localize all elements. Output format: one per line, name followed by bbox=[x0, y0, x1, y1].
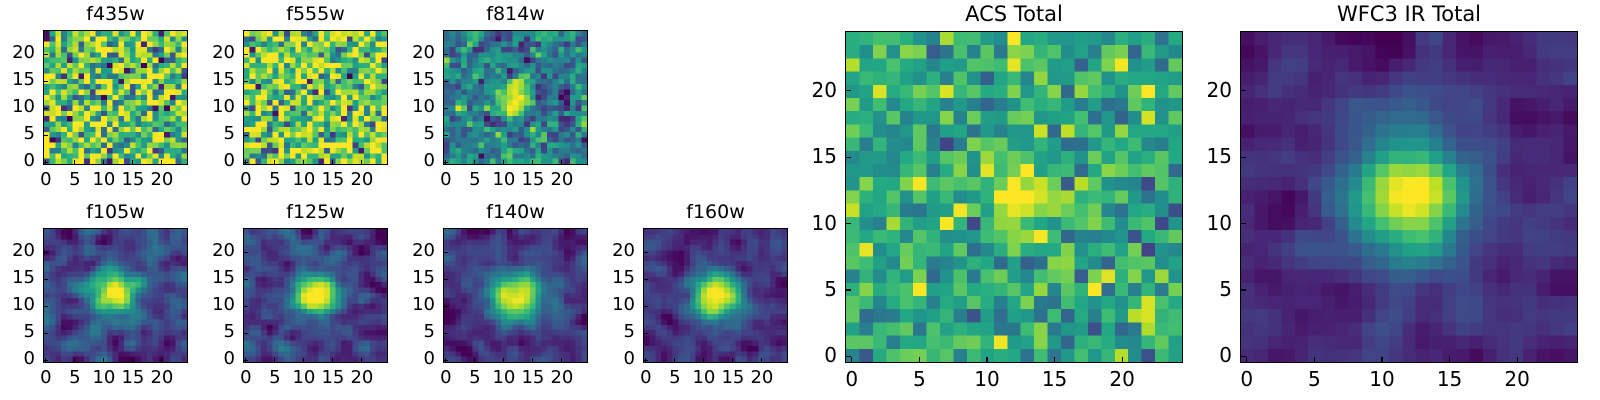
xtick-f555w-4 bbox=[361, 160, 362, 165]
ytick-label-f105w-4: 20 bbox=[0, 242, 35, 260]
heatmap-f125w bbox=[243, 228, 388, 363]
ytick-f140w-2 bbox=[443, 306, 448, 307]
xtick-label-wfc3-ir-total-3: 15 bbox=[1420, 369, 1480, 389]
ytick-label-f435w-0: 0 bbox=[0, 152, 35, 170]
xtick-f125w-1 bbox=[274, 358, 275, 363]
ytick-label-f555w-3: 15 bbox=[175, 71, 235, 89]
xtick-f814w-4 bbox=[561, 160, 562, 165]
ytick-f105w-3 bbox=[43, 279, 48, 280]
xtick-f140w-4 bbox=[561, 358, 562, 363]
ytick-label-wfc3-ir-total-1: 5 bbox=[1172, 279, 1232, 299]
ytick-f555w-0 bbox=[243, 162, 248, 163]
ytick-label-acs-total-3: 15 bbox=[777, 146, 837, 166]
xtick-f435w-2 bbox=[103, 160, 104, 165]
ytick-label-wfc3-ir-total-4: 20 bbox=[1172, 80, 1232, 100]
ytick-label-acs-total-1: 5 bbox=[777, 279, 837, 299]
xtick-f125w-3 bbox=[332, 358, 333, 363]
heatmap-canvas-wfc3-ir-total bbox=[1241, 32, 1577, 362]
panel-title-f160w: f160w bbox=[643, 203, 788, 222]
heatmap-canvas-f160w bbox=[644, 229, 787, 362]
ytick-wfc3-ir-total-0 bbox=[1240, 356, 1246, 357]
ytick-f125w-3 bbox=[243, 279, 248, 280]
ytick-f140w-3 bbox=[443, 279, 448, 280]
ytick-label-f140w-4: 20 bbox=[375, 242, 435, 260]
ytick-label-f555w-1: 5 bbox=[175, 125, 235, 143]
xtick-acs-total-3 bbox=[1054, 357, 1055, 363]
xtick-label-f435w-4: 20 bbox=[132, 171, 192, 189]
ytick-label-f435w-3: 15 bbox=[0, 71, 35, 89]
heatmap-f140w bbox=[443, 228, 588, 363]
ytick-label-f814w-1: 5 bbox=[375, 125, 435, 143]
ytick-f814w-4 bbox=[443, 54, 448, 55]
xtick-label-wfc3-ir-total-2: 10 bbox=[1352, 369, 1412, 389]
heatmap-wfc3-ir-total bbox=[1240, 31, 1578, 363]
xtick-f105w-3 bbox=[132, 358, 133, 363]
xtick-f814w-1 bbox=[474, 160, 475, 165]
ytick-f435w-1 bbox=[43, 135, 48, 136]
xtick-wfc3-ir-total-4 bbox=[1517, 357, 1518, 363]
xtick-label-acs-total-0: 0 bbox=[822, 369, 882, 389]
heatmap-canvas-f555w bbox=[244, 31, 387, 164]
ytick-label-f555w-2: 10 bbox=[175, 98, 235, 116]
ytick-f140w-1 bbox=[443, 333, 448, 334]
xtick-f160w-2 bbox=[703, 358, 704, 363]
xtick-label-acs-total-3: 15 bbox=[1025, 369, 1085, 389]
panel-title-acs-total: ACS Total bbox=[845, 4, 1183, 25]
ytick-label-f160w-1: 5 bbox=[575, 323, 635, 341]
xtick-f435w-3 bbox=[132, 160, 133, 165]
ytick-label-acs-total-2: 10 bbox=[777, 213, 837, 233]
ytick-f814w-1 bbox=[443, 135, 448, 136]
ytick-f435w-0 bbox=[43, 162, 48, 163]
xtick-label-f140w-4: 20 bbox=[532, 369, 592, 387]
xtick-label-wfc3-ir-total-0: 0 bbox=[1217, 369, 1277, 389]
xtick-f105w-4 bbox=[161, 358, 162, 363]
ytick-label-f814w-4: 20 bbox=[375, 44, 435, 62]
ytick-label-f160w-0: 0 bbox=[575, 350, 635, 368]
ytick-acs-total-4 bbox=[845, 90, 851, 91]
xtick-label-f814w-4: 20 bbox=[532, 171, 592, 189]
panel-title-f140w: f140w bbox=[443, 203, 588, 222]
ytick-label-f814w-0: 0 bbox=[375, 152, 435, 170]
ytick-f140w-0 bbox=[443, 360, 448, 361]
ytick-label-f160w-4: 20 bbox=[575, 242, 635, 260]
ytick-f160w-4 bbox=[643, 252, 648, 253]
ytick-wfc3-ir-total-3 bbox=[1240, 157, 1246, 158]
xtick-label-f105w-4: 20 bbox=[132, 369, 192, 387]
xtick-wfc3-ir-total-2 bbox=[1381, 357, 1382, 363]
heatmap-f435w bbox=[43, 30, 188, 165]
heatmap-canvas-f140w bbox=[444, 229, 587, 362]
ytick-label-f125w-4: 20 bbox=[175, 242, 235, 260]
xtick-f140w-2 bbox=[503, 358, 504, 363]
ytick-acs-total-3 bbox=[845, 157, 851, 158]
heatmap-f160w bbox=[643, 228, 788, 363]
xtick-label-wfc3-ir-total-4: 20 bbox=[1487, 369, 1547, 389]
ytick-label-f555w-4: 20 bbox=[175, 44, 235, 62]
ytick-acs-total-2 bbox=[845, 223, 851, 224]
ytick-label-f125w-3: 15 bbox=[175, 269, 235, 287]
ytick-label-f140w-0: 0 bbox=[375, 350, 435, 368]
ytick-f125w-4 bbox=[243, 252, 248, 253]
ytick-wfc3-ir-total-4 bbox=[1240, 90, 1246, 91]
xtick-acs-total-1 bbox=[919, 357, 920, 363]
heatmap-canvas-f435w bbox=[44, 31, 187, 164]
xtick-f160w-4 bbox=[761, 358, 762, 363]
xtick-label-acs-total-2: 10 bbox=[957, 369, 1017, 389]
ytick-label-f125w-1: 5 bbox=[175, 323, 235, 341]
heatmap-canvas-acs-total bbox=[846, 32, 1182, 362]
heatmap-canvas-f105w bbox=[44, 229, 187, 362]
xtick-f140w-3 bbox=[532, 358, 533, 363]
panel-title-f555w: f555w bbox=[243, 5, 388, 24]
xtick-f555w-2 bbox=[303, 160, 304, 165]
ytick-f814w-2 bbox=[443, 108, 448, 109]
xtick-acs-total-2 bbox=[986, 357, 987, 363]
ytick-label-f160w-2: 10 bbox=[575, 296, 635, 314]
xtick-acs-total-0 bbox=[851, 357, 852, 363]
heatmap-canvas-f125w bbox=[244, 229, 387, 362]
ytick-label-wfc3-ir-total-0: 0 bbox=[1172, 345, 1232, 365]
ytick-f555w-4 bbox=[243, 54, 248, 55]
xtick-label-wfc3-ir-total-1: 5 bbox=[1284, 369, 1344, 389]
ytick-label-f814w-2: 10 bbox=[375, 98, 435, 116]
ytick-label-f140w-3: 15 bbox=[375, 269, 435, 287]
xtick-wfc3-ir-total-0 bbox=[1246, 357, 1247, 363]
panel-title-f105w: f105w bbox=[43, 203, 188, 222]
xtick-f814w-3 bbox=[532, 160, 533, 165]
xtick-f105w-2 bbox=[103, 358, 104, 363]
ytick-wfc3-ir-total-1 bbox=[1240, 289, 1246, 290]
ytick-label-f555w-0: 0 bbox=[175, 152, 235, 170]
heatmap-acs-total bbox=[845, 31, 1183, 363]
xtick-f105w-1 bbox=[74, 358, 75, 363]
heatmap-f555w bbox=[243, 30, 388, 165]
ytick-f435w-2 bbox=[43, 108, 48, 109]
ytick-label-f140w-1: 5 bbox=[375, 323, 435, 341]
ytick-f814w-3 bbox=[443, 81, 448, 82]
ytick-label-f814w-3: 15 bbox=[375, 71, 435, 89]
panel-title-wfc3-ir-total: WFC3 IR Total bbox=[1240, 4, 1578, 25]
ytick-f105w-2 bbox=[43, 306, 48, 307]
xtick-f435w-4 bbox=[161, 160, 162, 165]
xtick-f125w-2 bbox=[303, 358, 304, 363]
ytick-label-f435w-4: 20 bbox=[0, 44, 35, 62]
xtick-f160w-1 bbox=[674, 358, 675, 363]
ytick-f160w-3 bbox=[643, 279, 648, 280]
ytick-f555w-1 bbox=[243, 135, 248, 136]
xtick-acs-total-4 bbox=[1122, 357, 1123, 363]
ytick-f125w-0 bbox=[243, 360, 248, 361]
ytick-f814w-0 bbox=[443, 162, 448, 163]
heatmap-canvas-f814w bbox=[444, 31, 587, 164]
ytick-f105w-4 bbox=[43, 252, 48, 253]
xtick-f555w-1 bbox=[274, 160, 275, 165]
ytick-label-f435w-2: 10 bbox=[0, 98, 35, 116]
ytick-f125w-2 bbox=[243, 306, 248, 307]
xtick-label-f125w-4: 20 bbox=[332, 369, 392, 387]
ytick-label-acs-total-0: 0 bbox=[777, 345, 837, 365]
ytick-f160w-2 bbox=[643, 306, 648, 307]
ytick-wfc3-ir-total-2 bbox=[1240, 223, 1246, 224]
ytick-f555w-3 bbox=[243, 81, 248, 82]
ytick-f160w-0 bbox=[643, 360, 648, 361]
panel-title-f125w: f125w bbox=[243, 203, 388, 222]
xtick-wfc3-ir-total-3 bbox=[1449, 357, 1450, 363]
ytick-f435w-4 bbox=[43, 54, 48, 55]
ytick-label-f105w-2: 10 bbox=[0, 296, 35, 314]
xtick-label-acs-total-4: 20 bbox=[1092, 369, 1152, 389]
heatmap-f814w bbox=[443, 30, 588, 165]
ytick-label-f105w-0: 0 bbox=[0, 350, 35, 368]
ytick-f105w-0 bbox=[43, 360, 48, 361]
panel-title-f814w: f814w bbox=[443, 5, 588, 24]
xtick-wfc3-ir-total-1 bbox=[1314, 357, 1315, 363]
xtick-f555w-3 bbox=[332, 160, 333, 165]
ytick-f555w-2 bbox=[243, 108, 248, 109]
figure-canvas: f435w0510152005101520f555w05101520051015… bbox=[0, 0, 1600, 400]
xtick-label-f555w-4: 20 bbox=[332, 171, 392, 189]
ytick-label-acs-total-4: 20 bbox=[777, 80, 837, 100]
ytick-label-f105w-3: 15 bbox=[0, 269, 35, 287]
xtick-f160w-3 bbox=[732, 358, 733, 363]
xtick-f140w-1 bbox=[474, 358, 475, 363]
xtick-f125w-4 bbox=[361, 358, 362, 363]
panel-title-f435w: f435w bbox=[43, 5, 188, 24]
ytick-label-wfc3-ir-total-2: 10 bbox=[1172, 213, 1232, 233]
ytick-label-f160w-3: 15 bbox=[575, 269, 635, 287]
ytick-f435w-3 bbox=[43, 81, 48, 82]
ytick-label-f105w-1: 5 bbox=[0, 323, 35, 341]
ytick-acs-total-0 bbox=[845, 356, 851, 357]
ytick-f125w-1 bbox=[243, 333, 248, 334]
ytick-f105w-1 bbox=[43, 333, 48, 334]
xtick-f435w-1 bbox=[74, 160, 75, 165]
heatmap-f105w bbox=[43, 228, 188, 363]
ytick-label-wfc3-ir-total-3: 15 bbox=[1172, 146, 1232, 166]
xtick-label-f160w-4: 20 bbox=[732, 369, 792, 387]
ytick-acs-total-1 bbox=[845, 289, 851, 290]
ytick-f140w-4 bbox=[443, 252, 448, 253]
xtick-label-acs-total-1: 5 bbox=[889, 369, 949, 389]
ytick-label-f125w-2: 10 bbox=[175, 296, 235, 314]
ytick-f160w-1 bbox=[643, 333, 648, 334]
ytick-label-f125w-0: 0 bbox=[175, 350, 235, 368]
ytick-label-f140w-2: 10 bbox=[375, 296, 435, 314]
xtick-f814w-2 bbox=[503, 160, 504, 165]
ytick-label-f435w-1: 5 bbox=[0, 125, 35, 143]
